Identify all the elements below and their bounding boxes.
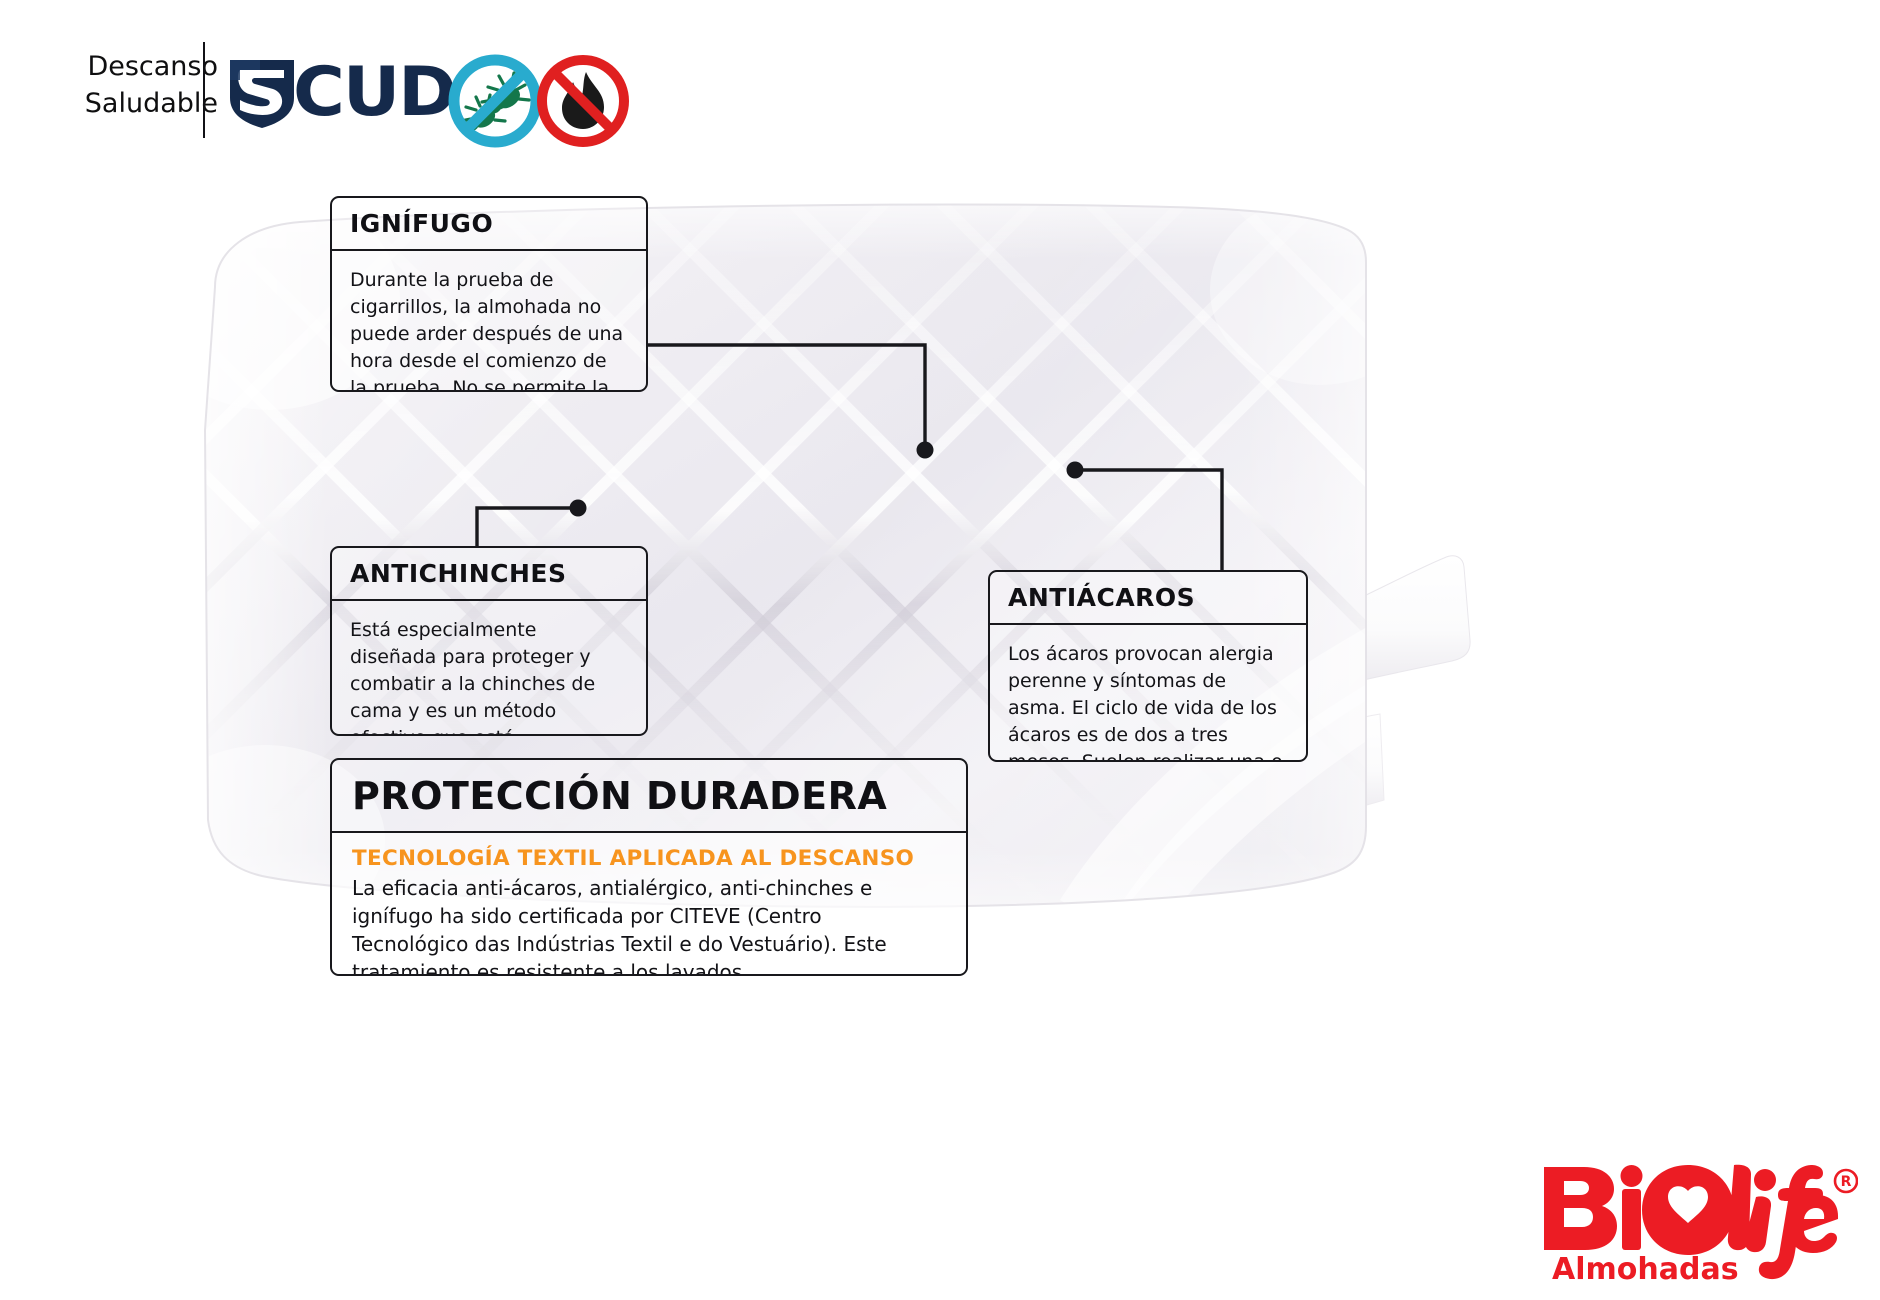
callout-ignifugo-title: IGNÍFUGO xyxy=(332,198,646,251)
no-bugs-icon xyxy=(446,52,544,150)
infographic-page: Descanso Saludable CUDO xyxy=(0,0,1880,1300)
callout-antichinches-body: Está especialmente diseñada para protege… xyxy=(332,601,646,736)
shield-s-icon xyxy=(228,56,296,130)
header-divider xyxy=(203,42,205,138)
biolife-logo: R Almohadas xyxy=(1538,1163,1858,1285)
callout-antiacaros-body: Los ácaros provocan alergia perenne y sí… xyxy=(990,625,1306,762)
callout-ignifugo-body: Durante la prueba de cigarrillos, la alm… xyxy=(332,251,646,392)
feature-panel-title: PROTECCIÓN DURADERA xyxy=(332,760,966,833)
callout-antiacaros: ANTIÁCAROS Los ácaros provocan alergia p… xyxy=(988,570,1308,762)
product-pillow-image xyxy=(0,0,1880,1300)
feature-panel-paragraph: La eficacia anti-ácaros, antialérgico, a… xyxy=(352,874,944,976)
no-fire-icon xyxy=(534,52,632,150)
feature-panel-body: TECNOLOGÍA TEXTIL APLICADA AL DESCANSO L… xyxy=(332,833,966,976)
biolife-subtitle: Almohadas xyxy=(1552,1252,1739,1285)
tagline-line-1: Descanso xyxy=(58,48,218,85)
header: Descanso Saludable CUDO xyxy=(0,0,1880,170)
callout-antichinches: ANTICHINCHES Está especialmente diseñada… xyxy=(330,546,648,736)
brand-tagline: Descanso Saludable xyxy=(58,48,218,122)
tagline-line-2: Saludable xyxy=(58,85,218,122)
feature-panel-subtitle: TECNOLOGÍA TEXTIL APLICADA AL DESCANSO xyxy=(352,845,944,872)
callout-antichinches-title: ANTICHINCHES xyxy=(332,548,646,601)
callout-proteccion-duradera: PROTECCIÓN DURADERA TECNOLOGÍA TEXTIL AP… xyxy=(330,758,968,976)
svg-text:R: R xyxy=(1841,1174,1852,1190)
callout-ignifugo: IGNÍFUGO Durante la prueba de cigarrillo… xyxy=(330,196,648,392)
callout-antiacaros-title: ANTIÁCAROS xyxy=(990,572,1306,625)
